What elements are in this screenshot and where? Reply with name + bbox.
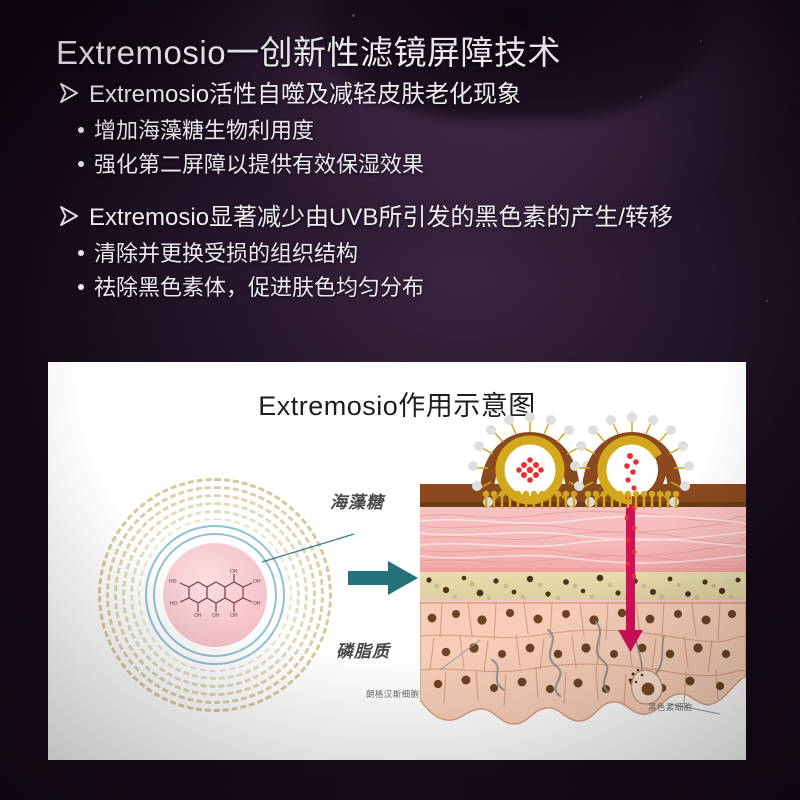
label-phospholipid: 磷脂质 (336, 637, 390, 662)
svg-text:OH: OH (253, 601, 261, 607)
bullet-list: Extremosio活性自噬及减轻皮肤老化现象 增加海藻糖生物利用度 强化第二屏… (56, 78, 756, 308)
svg-text:HO: HO (169, 579, 177, 585)
bullet-heading-text: Extremosio显著减少由UVB所引发的黑色素的产生/转移 (89, 201, 673, 235)
svg-text:HO: HO (170, 601, 178, 607)
svg-text:OH: OH (253, 579, 261, 585)
bullet-heading-text: Extremosio活性自噬及减轻皮肤老化现象 (89, 78, 521, 112)
skin-cross-section (420, 408, 746, 760)
bullet-heading: Extremosio显著减少由UVB所引发的黑色素的产生/转移 (58, 201, 756, 235)
vesicle-intact (468, 412, 592, 508)
dot-icon (78, 250, 84, 256)
dot-icon (78, 284, 84, 290)
bullet-heading: Extremosio活性自噬及减轻皮肤老化现象 (58, 78, 756, 112)
process-arrow-icon (348, 558, 420, 598)
bullet-item: 祛除黑色素体，促进肤色均匀分布 (78, 271, 756, 304)
label-trehalose: 海藻糖 (330, 488, 384, 513)
background-speck (766, 300, 768, 302)
dot-icon (78, 127, 84, 133)
molecule-structure-icon: HOHO OHOH OHOH OHOH (167, 569, 263, 621)
group-spacer (56, 185, 756, 201)
arrow-marker-icon (58, 203, 80, 233)
figure-panel: Extremosio作用示意图 HOHO OHOH (48, 362, 746, 760)
bullet-item-text: 强化第二屏障以提供有效保湿效果 (94, 148, 424, 181)
bullet-item-text: 清除并更换受损的组织结构 (94, 237, 358, 270)
svg-text:OH: OH (194, 613, 202, 619)
svg-text:OH: OH (230, 569, 238, 575)
background-speck (700, 40, 702, 42)
dot-icon (78, 161, 84, 167)
bullet-item-text: 增加海藻糖生物利用度 (94, 114, 314, 147)
bullet-item: 增加海藻糖生物利用度 (78, 114, 756, 147)
page-title: Extremosio一创新性滤镜屏障技术 (56, 26, 561, 74)
liposome-diagram: HOHO OHOH OHOH OHOH (100, 480, 330, 710)
bullet-item: 清除并更换受损的组织结构 (78, 237, 756, 270)
label-langerhans: 朗格汉斯细胞 (366, 688, 419, 700)
slide-root: Extremosio一创新性滤镜屏障技术 Extremosio活性自噬及减轻皮肤… (0, 0, 800, 800)
bullet-item: 强化第二屏障以提供有效保湿效果 (78, 148, 756, 181)
bullet-item-text: 祛除黑色素体，促进肤色均匀分布 (94, 271, 424, 304)
svg-text:OH: OH (212, 613, 220, 619)
background-speck (352, 14, 355, 17)
arrow-marker-icon (58, 80, 80, 110)
bullet-group: Extremosio活性自噬及减轻皮肤老化现象 增加海藻糖生物利用度 强化第二屏… (56, 78, 756, 181)
svg-text:OH: OH (230, 613, 238, 619)
bullet-group: Extremosio显著减少由UVB所引发的黑色素的产生/转移 清除并更换受损的… (56, 201, 756, 304)
label-melanocyte: 黑色素细胞 (648, 701, 693, 713)
